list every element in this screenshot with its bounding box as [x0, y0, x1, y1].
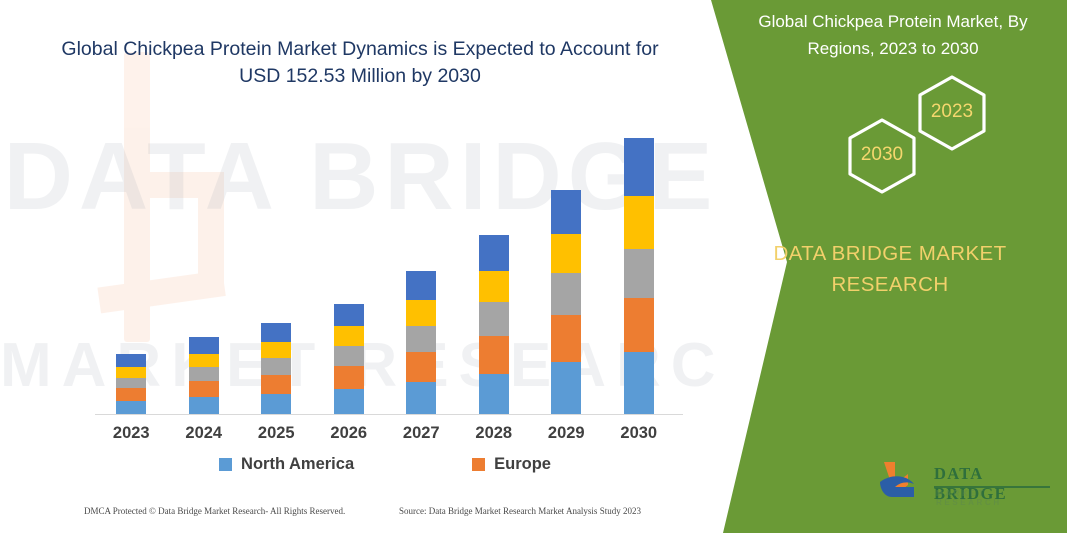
stacked-bar — [551, 190, 581, 414]
bar-column-2027 — [389, 110, 453, 414]
bar-column-2025 — [244, 110, 308, 414]
logo-divider — [934, 486, 1050, 488]
bar-column-2028 — [462, 110, 526, 414]
stacked-bar — [189, 337, 219, 414]
bar-segment-north-america — [406, 382, 436, 414]
chart-pane: DATA BRIDGE MARKET RESEARCH Global Chick… — [0, 0, 722, 533]
bar-segment-series-4 — [406, 300, 436, 325]
bar-column-2029 — [534, 110, 598, 414]
stacked-bar — [406, 271, 436, 414]
bar-segment-series-5 — [116, 354, 146, 367]
bar-column-2030 — [607, 110, 671, 414]
bar-segment-europe — [551, 315, 581, 362]
bar-segment-series-4 — [551, 234, 581, 273]
bar-segment-series-3 — [624, 249, 654, 299]
brand-wordmark: DATA BRIDGE MARKET RESEARCH — [730, 238, 1050, 300]
stacked-bar — [624, 138, 654, 414]
bar-segment-north-america — [189, 397, 219, 414]
bar-segment-series-4 — [116, 367, 146, 377]
company-logo: DATA BRIDGE MARKET RESEARCH — [878, 458, 1053, 510]
bar-segment-europe — [189, 381, 219, 397]
x-axis-labels: 20232024202520262027202820292030 — [95, 424, 675, 443]
bar-segment-series-5 — [334, 304, 364, 327]
bar-segment-series-3 — [479, 302, 509, 335]
bar-segment-series-4 — [189, 354, 219, 367]
stacked-bars — [95, 110, 675, 414]
x-axis-label-2029: 2029 — [534, 424, 598, 443]
stacked-bar — [334, 304, 364, 414]
chart-title: Global Chickpea Protein Market Dynamics … — [60, 36, 660, 90]
hexagon-2030-label: 2030 — [857, 144, 907, 166]
bar-segment-series-4 — [261, 342, 291, 358]
bar-segment-series-5 — [551, 190, 581, 234]
brand-line-2: RESEARCH — [730, 269, 1050, 300]
legend-label: North America — [241, 455, 354, 474]
bar-segment-north-america — [334, 389, 364, 414]
footer: DMCA Protected © Data Bridge Market Rese… — [0, 506, 700, 528]
bar-column-2024 — [172, 110, 236, 414]
stacked-bar — [479, 235, 509, 414]
bar-column-2026 — [317, 110, 381, 414]
legend-label: Europe — [494, 455, 551, 474]
logo-tagline: MARKET RESEARCH — [936, 489, 1053, 507]
bar-segment-north-america — [116, 401, 146, 414]
bar-segment-series-4 — [479, 271, 509, 303]
bar-segment-europe — [116, 388, 146, 400]
x-axis-line — [95, 414, 683, 415]
bar-segment-series-5 — [261, 323, 291, 342]
bar-segment-series-4 — [624, 196, 654, 249]
x-axis-label-2025: 2025 — [244, 424, 308, 443]
bar-segment-series-5 — [624, 138, 654, 196]
bar-segment-europe — [406, 352, 436, 382]
x-axis-label-2024: 2024 — [172, 424, 236, 443]
bar-segment-europe — [334, 366, 364, 389]
legend-swatch-icon — [472, 458, 485, 471]
bar-segment-north-america — [261, 394, 291, 414]
x-axis-label-2023: 2023 — [99, 424, 163, 443]
bar-segment-north-america — [551, 362, 581, 414]
x-axis-label-2026: 2026 — [317, 424, 381, 443]
bar-column-2023 — [99, 110, 163, 414]
bar-segment-series-4 — [334, 326, 364, 345]
bar-segment-europe — [479, 336, 509, 374]
hexagon-2023-label: 2023 — [927, 101, 977, 123]
bar-segment-series-3 — [334, 346, 364, 367]
bar-segment-north-america — [479, 374, 509, 414]
bar-segment-series-3 — [551, 273, 581, 315]
bar-segment-series-3 — [189, 367, 219, 381]
bar-segment-north-america — [624, 352, 654, 414]
chart-plot-area — [95, 110, 675, 415]
infographic-canvas: DATA BRIDGE MARKET RESEARCH Global Chick… — [0, 0, 1067, 533]
footer-source-text: Source: Data Bridge Market Research Mark… — [399, 506, 641, 516]
bar-segment-europe — [261, 375, 291, 394]
legend-item-europe[interactable]: Europe — [472, 455, 551, 474]
bar-segment-series-5 — [189, 337, 219, 353]
brand-line-1: DATA BRIDGE MARKET — [730, 238, 1050, 269]
x-axis-label-2027: 2027 — [389, 424, 453, 443]
stacked-bar — [116, 354, 146, 414]
footer-dmca-text: DMCA Protected © Data Bridge Market Rese… — [84, 506, 345, 516]
bar-segment-series-3 — [116, 378, 146, 389]
x-axis-label-2030: 2030 — [607, 424, 671, 443]
bar-segment-series-3 — [261, 358, 291, 375]
x-axis-label-2028: 2028 — [462, 424, 526, 443]
stacked-bar — [261, 323, 291, 414]
legend-item-north-america[interactable]: North America — [219, 455, 354, 474]
bar-segment-series-3 — [406, 326, 436, 353]
bar-segment-europe — [624, 298, 654, 352]
bar-segment-series-5 — [479, 235, 509, 271]
chart-legend: North AmericaEurope — [95, 455, 675, 474]
logo-mark-icon — [878, 460, 926, 506]
legend-swatch-icon — [219, 458, 232, 471]
bar-segment-series-5 — [406, 271, 436, 300]
